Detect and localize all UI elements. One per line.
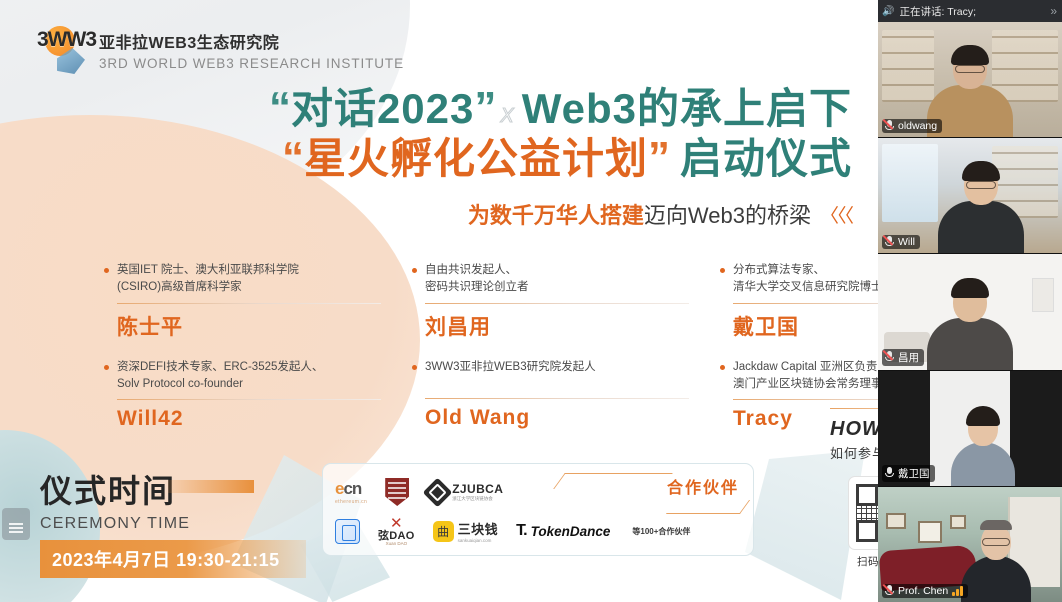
partners-panel: 合作伙伴 ecn ethereum.cn ZJUBCA 浙江大学区块链协会 <box>322 463 754 556</box>
ceremony-title-en: CEREMONY TIME <box>40 515 306 533</box>
participant-name: Prof. Chen <box>898 585 948 597</box>
speaker-role-line2: (CSIRO)高级首席科学家 <box>117 281 242 293</box>
partners-header: 合作伙伴 <box>667 474 739 498</box>
participant-tile[interactable]: oldwang <box>878 22 1062 138</box>
partner-logo-tokendance: T. TokenDance <box>516 522 610 540</box>
xuandao-x-icon: ✕ <box>378 516 415 531</box>
title-quote-close-2: ” <box>648 136 670 180</box>
speaker-name: 刘昌用 <box>425 311 689 341</box>
bullet-dot-icon <box>720 268 725 273</box>
bullet-dot-icon <box>412 268 417 273</box>
bullet-dot-icon <box>412 365 417 370</box>
screen-root: 3WW3 亚非拉WEB3生态研究院 3RD WORLD WEB3 RESEARC… <box>0 0 1062 602</box>
institute-name-cn: 亚非拉WEB3生态研究院 <box>99 29 404 53</box>
speaker-role-line2: 清华大学交叉信息研究院博士 <box>733 281 883 293</box>
speaker-divider <box>117 399 381 400</box>
partner-sankuaiqian-name: 三块钱 <box>458 519 499 538</box>
speaker-role-line1: 自由共识发起人、 <box>425 264 517 276</box>
decor-polygon-b <box>745 450 865 600</box>
institute-logo-icon: 3WW3 <box>35 22 87 78</box>
partner-tokendance-name: TokenDance <box>531 524 611 539</box>
logo-text: 3WW3 <box>35 22 87 78</box>
speaker-role-line2: 密码共识理论创立者 <box>425 281 529 293</box>
speaker-card: 资深DEFI技术专家、ERC-3525发起人、 Solv Protocol co… <box>104 359 381 432</box>
active-speaker-label: 正在讲话: Tracy; <box>899 4 976 19</box>
participant-name-badge: Prof. Chen <box>882 584 968 598</box>
title-block: “ 对话2023 ” X Web3的承上启下 “ 星火孵化公益计划 ” 启动仪式… <box>0 86 880 230</box>
tokendance-mark-icon: T. <box>516 522 526 540</box>
speaker-card: 3WW3亚非拉WEB3研究院发起人 Old Wang <box>412 359 689 432</box>
bullet-dot-icon <box>104 365 109 370</box>
title-quote-close-1: ” <box>474 86 496 130</box>
speaker-role-line2: 澳门产业区块链协会常务理事 <box>733 378 883 390</box>
active-speaker-bar: 🔊 正在讲话: Tracy; » <box>878 0 1062 22</box>
partner-logo-zjubca: ZJUBCA 浙江大学区块链协会 <box>427 482 503 503</box>
bullet-dot-icon <box>104 268 109 273</box>
sankuaiqian-coin-icon <box>433 521 454 542</box>
partner-logo-blue-book <box>335 519 360 544</box>
speaker-role-line1: 英国IET 院士、澳大利亚联邦科学院 <box>117 264 299 276</box>
bullet-dot-icon <box>720 365 725 370</box>
partners-decor-line-bottom <box>666 500 750 514</box>
participant-name: 昌用 <box>898 350 919 365</box>
partner-zjubca-sub: 浙江大学区块链协会 <box>452 496 503 502</box>
participant-name: oldwang <box>898 120 937 132</box>
audio-level-icon <box>952 586 963 596</box>
institute-name-en: 3RD WORLD WEB3 RESEARCH INSTITUTE <box>99 56 404 71</box>
speaker-divider <box>425 398 689 399</box>
participant-name: Will <box>898 236 915 248</box>
speaker-role-line1: 3WW3亚非拉WEB3研究院发起人 <box>425 361 596 373</box>
participant-tile[interactable]: Will <box>878 138 1062 254</box>
title-quote-open-2: “ <box>282 136 304 180</box>
participant-tile[interactable]: 昌用 <box>878 254 1062 370</box>
partners-decor-line-top <box>553 473 673 489</box>
speaker-divider <box>425 303 689 304</box>
speaker-role-line2: Solv Protocol co-founder <box>117 378 243 390</box>
partner-logo-ecn: ecn ethereum.cn <box>335 479 367 505</box>
speaker-role-line1: Jackdaw Capital 亚洲区负责人、 <box>733 361 900 373</box>
ceremony-title-underline <box>168 480 254 493</box>
ceremony-time-block: 仪式时间 CEREMONY TIME 2023年4月7日 19:30-21:15 <box>40 466 306 578</box>
partner-logo-university-shield <box>385 478 409 506</box>
partner-logo-sankuaiqian: 三块钱 sankuaiqian.com <box>433 519 499 543</box>
partner-zjubca-name: ZJUBCA <box>452 482 503 496</box>
ceremony-title-cn: 仪式时间 <box>40 466 176 512</box>
participant-name-badge: oldwang <box>882 119 942 133</box>
list-menu-icon-button[interactable] <box>2 508 30 540</box>
speaker-card: 英国IET 院士、澳大利亚联邦科学院 (CSIRO)高级首席科学家 陈士平 <box>104 262 381 341</box>
partners-more-label: 等100+合作伙伴 <box>632 526 690 537</box>
participant-name: 戴卫国 <box>898 466 930 481</box>
participant-name-badge: Will <box>882 235 920 249</box>
subtitle-rest: 迈向Web3的桥梁 <box>644 198 811 230</box>
title-line2-part1: 星火孵化公益计划 <box>304 138 648 180</box>
title-quote-open-1: “ <box>269 86 291 130</box>
participant-name-badge: 昌用 <box>882 349 924 366</box>
speaker-name: Old Wang <box>425 406 689 430</box>
chevron-collapse-icon[interactable]: » <box>1050 4 1058 18</box>
speaker-role-line1: 资深DEFI技术专家、ERC-3525发起人、 <box>117 361 323 373</box>
speaker-divider <box>117 303 381 304</box>
title-line1-part2: Web3的承上启下 <box>522 88 852 130</box>
mic-muted-icon <box>885 351 894 363</box>
speaker-audio-icon: 🔊 <box>882 6 894 17</box>
speaker-role-line1: 分布式算法专家、 <box>733 264 825 276</box>
title-x-separator: X <box>500 106 513 126</box>
mic-unmuted-icon <box>885 467 894 479</box>
subtitle-highlight: 为数千万华人搭建 <box>468 198 644 230</box>
speaker-name: 陈士平 <box>117 311 381 341</box>
title-line1-part1: 对话2023 <box>291 88 474 130</box>
zjubca-diamond-icon <box>423 477 453 507</box>
partner-sankuaiqian-sub: sankuaiqian.com <box>458 538 499 543</box>
subtitle-row: 为数千万华人搭建 迈向Web3的桥梁 〈〈〈 <box>0 198 880 230</box>
brand-header: 3WW3 亚非拉WEB3生态研究院 3RD WORLD WEB3 RESEARC… <box>35 22 404 78</box>
speaker-grid: 英国IET 院士、澳大利亚联邦科学院 (CSIRO)高级首席科学家 陈士平 自由… <box>104 262 894 431</box>
subtitle-chevrons-icon: 〈〈〈 <box>820 201 852 228</box>
ceremony-datetime: 2023年4月7日 19:30-21:15 <box>40 540 306 578</box>
partner-logo-xuandao: ✕ 弦DAO Xuan DAO <box>378 516 415 547</box>
mic-muted-icon <box>885 585 894 597</box>
participant-tile-active-speaker[interactable]: Prof. Chen <box>878 487 1062 602</box>
mic-muted-icon <box>885 236 894 248</box>
participant-tile[interactable]: 戴卫国 <box>878 371 1062 487</box>
mic-muted-icon <box>885 120 894 132</box>
title-line2-part2: 启动仪式 <box>680 138 852 180</box>
video-participant-sidebar: 🔊 正在讲话: Tracy; » oldwang <box>878 0 1062 602</box>
speaker-card: 自由共识发起人、 密码共识理论创立者 刘昌用 <box>412 262 689 341</box>
partner-ecn-sub: ethereum.cn <box>335 499 367 505</box>
participant-name-badge: 戴卫国 <box>882 465 935 482</box>
speaker-name: Will42 <box>117 407 381 431</box>
